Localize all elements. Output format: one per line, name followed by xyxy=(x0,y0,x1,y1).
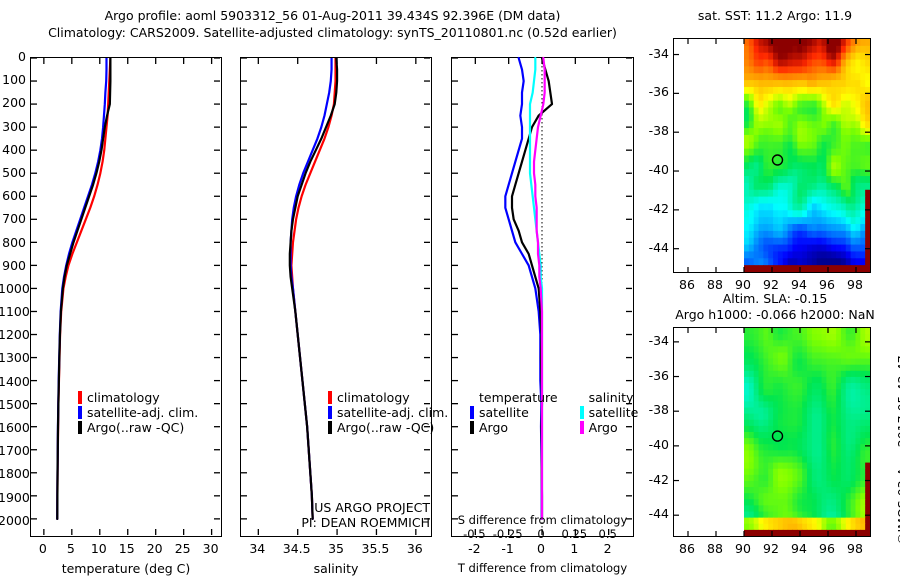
legend-label: Argo xyxy=(479,420,508,435)
legend-label: climatology xyxy=(87,390,160,405)
legend-item: satellite xyxy=(470,405,558,420)
depth-tick-label: 800 xyxy=(0,235,26,250)
depth-tick-label: 300 xyxy=(0,119,26,134)
profile-line-argo-raw-qc- xyxy=(290,58,337,519)
legend-swatch xyxy=(78,391,82,404)
depth-tick-label: 2000 xyxy=(0,513,26,528)
difference-profile-panel xyxy=(451,57,634,537)
legend-group: salinitysatelliteArgo xyxy=(580,390,639,435)
legend-swatch xyxy=(470,421,474,434)
sst-lat-tick-label: -44 xyxy=(641,240,669,255)
legend-label: satellite xyxy=(589,405,639,420)
depth-tick-label: 1200 xyxy=(0,327,26,342)
temperature-profile-panel xyxy=(30,57,222,537)
temperature-tick-label: 30 xyxy=(197,541,225,556)
sst-lat-tick-label: -42 xyxy=(641,201,669,216)
legend-item: satellite-adj. clim. xyxy=(328,405,448,420)
depth-tick-label: 1400 xyxy=(0,374,26,389)
sst-map-panel xyxy=(673,38,871,273)
salinity-profile-panel xyxy=(240,57,432,537)
legend-swatch xyxy=(328,406,332,419)
difference-legend: temperaturesatelliteArgosalinitysatellit… xyxy=(470,390,638,435)
difference-bottom-axis-label: T difference from climatology xyxy=(446,561,639,575)
difference-bottom-tick-label: -1 xyxy=(492,541,524,556)
salinity-axis-label: salinity xyxy=(240,561,432,576)
legend-item: Argo(..raw -QC) xyxy=(78,420,198,435)
legend-item: Argo xyxy=(580,420,639,435)
legend-label: climatology xyxy=(337,390,410,405)
depth-tick-label: 1700 xyxy=(0,443,26,458)
depth-tick-label: 0 xyxy=(0,49,26,64)
legend-group: temperaturesatelliteArgo xyxy=(470,390,558,435)
diff-line-temperature-argo xyxy=(512,58,552,519)
sla-map-title-line1: Altim. SLA: -0.15 xyxy=(660,291,890,306)
depth-tick-label: 400 xyxy=(0,142,26,157)
sst-lat-tick-label: -38 xyxy=(641,123,669,138)
project-credit-line2: PI: DEAN ROEMMICH xyxy=(232,515,430,530)
profile-line-satellite-adj-clim- xyxy=(57,58,106,519)
sla-lon-tick-label: 92 xyxy=(760,541,782,556)
legend-item: climatology xyxy=(328,390,448,405)
sla-lat-tick-label: -44 xyxy=(641,506,669,521)
sla-lat-tick-label: -38 xyxy=(641,402,669,417)
legend-label: satellite xyxy=(479,405,529,420)
depth-tick-label: 100 xyxy=(0,72,26,87)
legend-label: Argo xyxy=(589,420,618,435)
depth-tick-label: 1500 xyxy=(0,397,26,412)
sla-lon-tick-label: 96 xyxy=(816,541,838,556)
sla-lon-tick-label: 94 xyxy=(788,541,810,556)
depth-tick-label: 1900 xyxy=(0,490,26,505)
depth-tick-label: 200 xyxy=(0,95,26,110)
legend-group-title: salinity xyxy=(589,390,639,405)
depth-tick-label: 1600 xyxy=(0,420,26,435)
depth-tick-label: 900 xyxy=(0,258,26,273)
sst-lon-tick-label: 98 xyxy=(844,277,866,292)
imos-copyright: ©IMOS 03-Aug-2017 05:42:47 xyxy=(895,355,900,545)
legend-swatch xyxy=(78,406,82,419)
temperature-tick-label: 0 xyxy=(29,541,57,556)
legend-label: Argo(..raw -QC) xyxy=(337,420,434,435)
legend-swatch xyxy=(78,421,82,434)
sst-lon-tick-label: 90 xyxy=(732,277,754,292)
depth-tick-label: 700 xyxy=(0,211,26,226)
legend-group-title: temperature xyxy=(479,390,558,405)
salinity-tick-label: 34 xyxy=(237,541,277,556)
legend-swatch xyxy=(580,406,584,419)
temperature-axis-label: temperature (deg C) xyxy=(30,561,222,576)
difference-bottom-tick-label: 1 xyxy=(558,541,590,556)
legend-item: climatology xyxy=(78,390,198,405)
depth-tick-label: 600 xyxy=(0,188,26,203)
sst-lon-tick-label: 94 xyxy=(788,277,810,292)
legend-label: Argo(..raw -QC) xyxy=(87,420,184,435)
sst-lon-tick-label: 96 xyxy=(816,277,838,292)
legend-swatch xyxy=(328,391,332,404)
sla-lat-tick-label: -40 xyxy=(641,437,669,452)
difference-bottom-tick-label: -2 xyxy=(458,541,490,556)
project-credit: US ARGO PROJECT PI: DEAN ROEMMICH xyxy=(232,500,430,530)
temperature-legend: climatologysatellite-adj. clim.Argo(..ra… xyxy=(78,390,198,435)
legend-item: Argo(..raw -QC) xyxy=(328,420,448,435)
sst-lon-tick-label: 92 xyxy=(760,277,782,292)
salinity-legend: climatologysatellite-adj. clim.Argo(..ra… xyxy=(328,390,448,435)
figure-title-line1: Argo profile: aoml 5903312_56 01-Aug-201… xyxy=(0,8,665,23)
temperature-tick-label: 5 xyxy=(57,541,85,556)
sla-lon-tick-label: 88 xyxy=(704,541,726,556)
sla-map-title-line2: Argo h1000: -0.066 h2000: NaN xyxy=(655,307,895,322)
legend-swatch xyxy=(470,406,474,419)
depth-tick-label: 1000 xyxy=(0,281,26,296)
diff-line-temperature-satellite xyxy=(505,58,541,519)
difference-bottom-tick-label: 0 xyxy=(525,541,557,556)
sla-lat-tick-label: -34 xyxy=(641,333,669,348)
temperature-tick-label: 15 xyxy=(113,541,141,556)
temperature-tick-label: 25 xyxy=(169,541,197,556)
legend-item: satellite xyxy=(580,405,639,420)
temperature-tick-label: 10 xyxy=(85,541,113,556)
sla-lon-tick-label: 86 xyxy=(676,541,698,556)
depth-tick-label: 1300 xyxy=(0,350,26,365)
sst-lat-tick-label: -34 xyxy=(641,46,669,61)
legend-swatch xyxy=(580,421,584,434)
legend-item: satellite-adj. clim. xyxy=(78,405,198,420)
sst-lon-tick-label: 86 xyxy=(676,277,698,292)
project-credit-line1: US ARGO PROJECT xyxy=(232,500,430,515)
sst-lat-tick-label: -36 xyxy=(641,84,669,99)
temperature-tick-label: 20 xyxy=(141,541,169,556)
legend-swatch xyxy=(328,421,332,434)
depth-tick-label: 1800 xyxy=(0,466,26,481)
salinity-tick-label: 36 xyxy=(395,541,435,556)
sla-map-panel xyxy=(673,327,871,537)
sst-lon-tick-label: 88 xyxy=(704,277,726,292)
difference-bottom-tick-label: 2 xyxy=(592,541,624,556)
salinity-tick-label: 35 xyxy=(316,541,356,556)
difference-top-axis-label: S difference from climatology xyxy=(451,513,634,527)
sla-lat-tick-label: -36 xyxy=(641,368,669,383)
sla-lon-tick-label: 90 xyxy=(732,541,754,556)
legend-label: satellite-adj. clim. xyxy=(337,405,448,420)
depth-tick-label: 500 xyxy=(0,165,26,180)
profile-line-climatology xyxy=(291,58,335,519)
figure-title-line2: Climatology: CARS2009. Satellite-adjuste… xyxy=(0,25,665,40)
sla-lon-tick-label: 98 xyxy=(844,541,866,556)
sst-map-title: sat. SST: 11.2 Argo: 11.9 xyxy=(660,8,890,23)
sst-lat-tick-label: -40 xyxy=(641,162,669,177)
legend-item: Argo xyxy=(470,420,558,435)
sla-lat-tick-label: -42 xyxy=(641,472,669,487)
salinity-tick-label: 34.5 xyxy=(277,541,317,556)
salinity-tick-label: 35.5 xyxy=(355,541,395,556)
depth-tick-label: 1100 xyxy=(0,304,26,319)
legend-label: satellite-adj. clim. xyxy=(87,405,198,420)
